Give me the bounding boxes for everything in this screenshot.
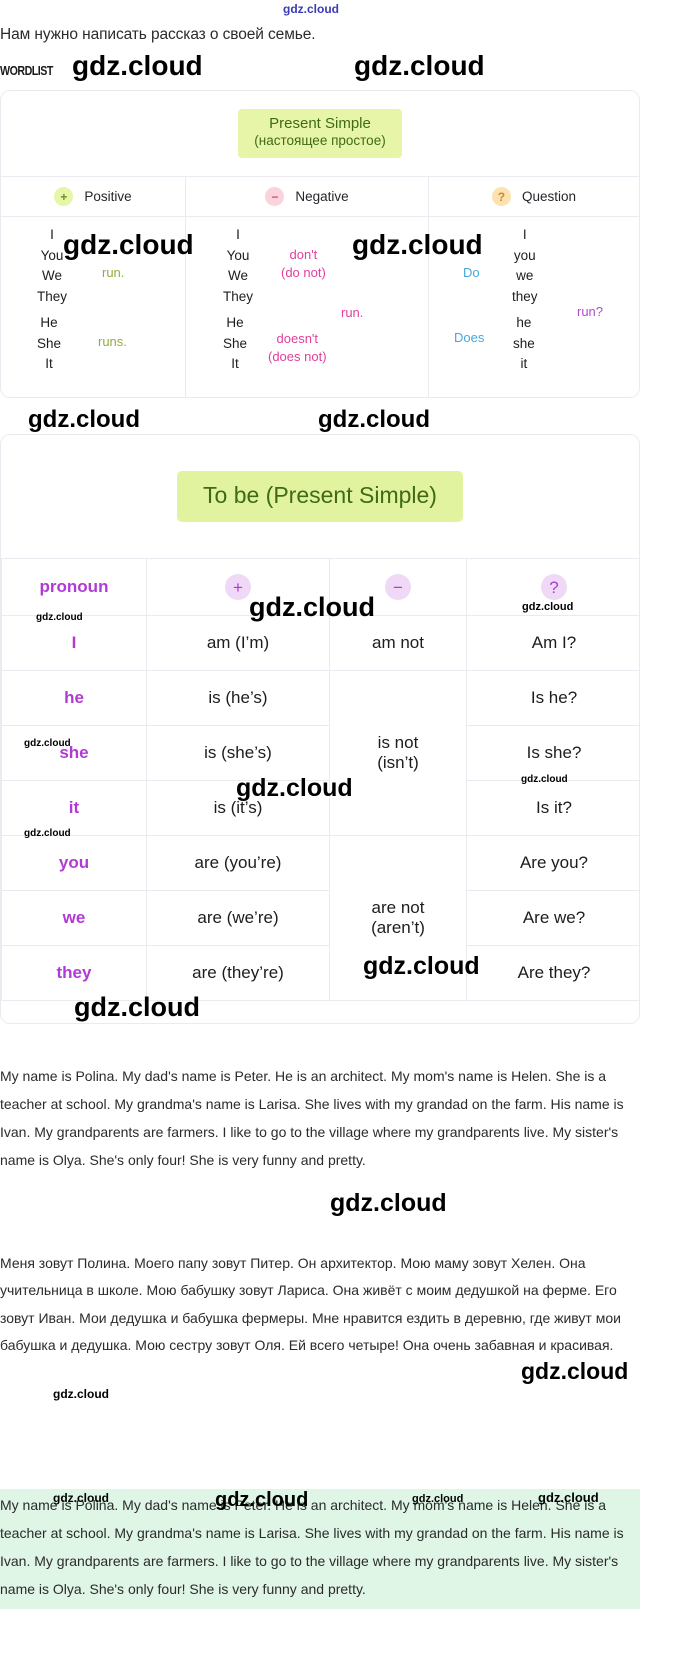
question-pronouns-plural: I you we they bbox=[512, 225, 538, 307]
present-simple-header-row: + Positive − Negative ? Question bbox=[1, 177, 639, 217]
column-header-negative: − Negative bbox=[186, 177, 429, 216]
column-header-negative-label: Negative bbox=[295, 189, 348, 204]
row-positive-i: am (I’m) bbox=[147, 616, 330, 671]
wordlist-label: WORDLIST bbox=[0, 63, 53, 78]
present-simple-title-chip: Present Simple (настоящее простое) bbox=[238, 109, 401, 159]
present-simple-card: Present Simple (настоящее простое) + Pos… bbox=[0, 90, 640, 398]
table-row: we are (we’re) Are we? bbox=[2, 891, 641, 946]
table-row: he is (he’s) is not (isn’t) Is he? bbox=[2, 671, 641, 726]
row-positive-we: are (we’re) bbox=[147, 891, 330, 946]
row-pronoun-i: I bbox=[2, 616, 147, 671]
watermark-wordlist-1: gdz.cloud bbox=[72, 50, 203, 82]
question-verb: run? bbox=[577, 304, 603, 319]
is-not-text: is not bbox=[378, 733, 419, 752]
question-aux-plural: Do bbox=[463, 265, 480, 280]
watermark-para-ru-1: gdz.cloud bbox=[521, 1358, 628, 1385]
negative-pronouns-plural: I You We They bbox=[223, 225, 253, 307]
header-question: ? bbox=[467, 559, 641, 616]
table-row: they are (they’re) Are they? bbox=[2, 946, 641, 1001]
row-pronoun-she: she bbox=[2, 726, 147, 781]
row-pronoun-we: we bbox=[2, 891, 147, 946]
table-row: I am (I’m) am not Am I? bbox=[2, 616, 641, 671]
row-question-we: Are we? bbox=[467, 891, 641, 946]
positive-pronouns-plural: I You We They bbox=[37, 225, 67, 307]
table-header-row: pronoun + − ? bbox=[2, 559, 641, 616]
positive-verb-singular: runs. bbox=[98, 334, 127, 349]
negative-column: I You We They don't (do not) He She It d… bbox=[186, 217, 429, 398]
isnt-text: (isn’t) bbox=[377, 753, 419, 772]
row-pronoun-they: they bbox=[2, 946, 147, 1001]
column-header-question: ? Question bbox=[429, 177, 639, 216]
column-header-positive-label: Positive bbox=[84, 189, 131, 204]
row-question-you: Are you? bbox=[467, 836, 641, 891]
row-question-they: Are they? bbox=[467, 946, 641, 1001]
to-be-title-chip: To be (Present Simple) bbox=[177, 471, 463, 522]
row-positive-they: are (they’re) bbox=[147, 946, 330, 1001]
question-pronouns-singular: he she it bbox=[513, 313, 535, 375]
header-pronoun: pronoun bbox=[2, 559, 147, 616]
watermark-top: gdz.cloud bbox=[283, 2, 339, 16]
row-positive-she: is (she’s) bbox=[147, 726, 330, 781]
answer-english: My name is Polina. My dad's name is Pete… bbox=[0, 1062, 640, 1174]
question-mark-icon: ? bbox=[541, 574, 567, 600]
negative-aux-singular: doesn't (does not) bbox=[268, 330, 327, 365]
answer-highlighted: My name is Polina. My dad's name is Pete… bbox=[0, 1489, 640, 1609]
watermark-gap-1: gdz.cloud bbox=[28, 406, 140, 434]
watermark-wordlist-2: gdz.cloud bbox=[354, 50, 485, 82]
present-simple-body: I You We They run. He She It runs. I You… bbox=[1, 217, 639, 398]
row-negative-are-not: are not (aren’t) bbox=[330, 836, 467, 1001]
row-question-it: Is it? bbox=[467, 781, 641, 836]
header-negative: − bbox=[330, 559, 467, 616]
arent-text: (aren’t) bbox=[371, 918, 425, 937]
table-row: it is (it’s) Is it? bbox=[2, 781, 641, 836]
minus-icon: − bbox=[385, 574, 411, 600]
row-pronoun-he: he bbox=[2, 671, 147, 726]
negative-verb: run. bbox=[341, 304, 363, 322]
watermark-para-en: gdz.cloud bbox=[330, 1189, 447, 1218]
answer-russian: Меня зовут Полина. Моего папу зовут Пите… bbox=[0, 1250, 640, 1359]
present-simple-subtitle: (настоящее простое) bbox=[254, 133, 385, 150]
negative-aux-plural: don't (do not) bbox=[281, 246, 326, 281]
row-question-i: Am I? bbox=[467, 616, 641, 671]
watermark-gap-2: gdz.cloud bbox=[318, 406, 430, 434]
question-mark-icon: ? bbox=[492, 187, 511, 206]
row-question-she: Is she? bbox=[467, 726, 641, 781]
row-positive-he: is (he’s) bbox=[147, 671, 330, 726]
plus-icon: + bbox=[54, 187, 73, 206]
row-question-he: Is he? bbox=[467, 671, 641, 726]
wordlist-row: WORDLIST bbox=[0, 55, 65, 85]
row-negative-is-not: is not (isn’t) bbox=[330, 671, 467, 836]
row-negative-i: am not bbox=[330, 616, 467, 671]
table-row: you are (you’re) are not (aren’t) Are yo… bbox=[2, 836, 641, 891]
watermark-para-ru-2: gdz.cloud bbox=[53, 1387, 109, 1401]
row-positive-you: are (you’re) bbox=[147, 836, 330, 891]
to-be-table: pronoun + − ? I am (I’m) am not Am I? he bbox=[1, 558, 640, 1001]
question-aux-singular: Does bbox=[454, 330, 484, 345]
column-header-question-label: Question bbox=[522, 189, 576, 204]
header-positive: + bbox=[147, 559, 330, 616]
to-be-title-band: To be (Present Simple) bbox=[1, 435, 639, 558]
task-note: Нам нужно написать рассказ о своей семье… bbox=[0, 26, 315, 44]
to-be-card: To be (Present Simple) pronoun + − ? I a… bbox=[0, 434, 640, 1024]
column-header-positive: + Positive bbox=[1, 177, 186, 216]
present-simple-title: Present Simple bbox=[269, 115, 371, 132]
are-not-text: are not bbox=[372, 898, 425, 917]
present-simple-title-band: Present Simple (настоящее простое) bbox=[1, 91, 639, 177]
minus-icon: − bbox=[265, 187, 284, 206]
row-pronoun-it: it bbox=[2, 781, 147, 836]
positive-pronouns-singular: He She It bbox=[37, 313, 61, 375]
positive-verb-plural: run. bbox=[102, 265, 124, 280]
positive-column: I You We They run. He She It runs. bbox=[1, 217, 186, 398]
row-positive-it: is (it’s) bbox=[147, 781, 330, 836]
row-pronoun-you: you bbox=[2, 836, 147, 891]
plus-icon: + bbox=[225, 574, 251, 600]
table-row: she is (she’s) Is she? bbox=[2, 726, 641, 781]
negative-pronouns-singular: He She It bbox=[223, 313, 247, 375]
question-column: Do I you we they Does he she it run? bbox=[429, 217, 639, 398]
